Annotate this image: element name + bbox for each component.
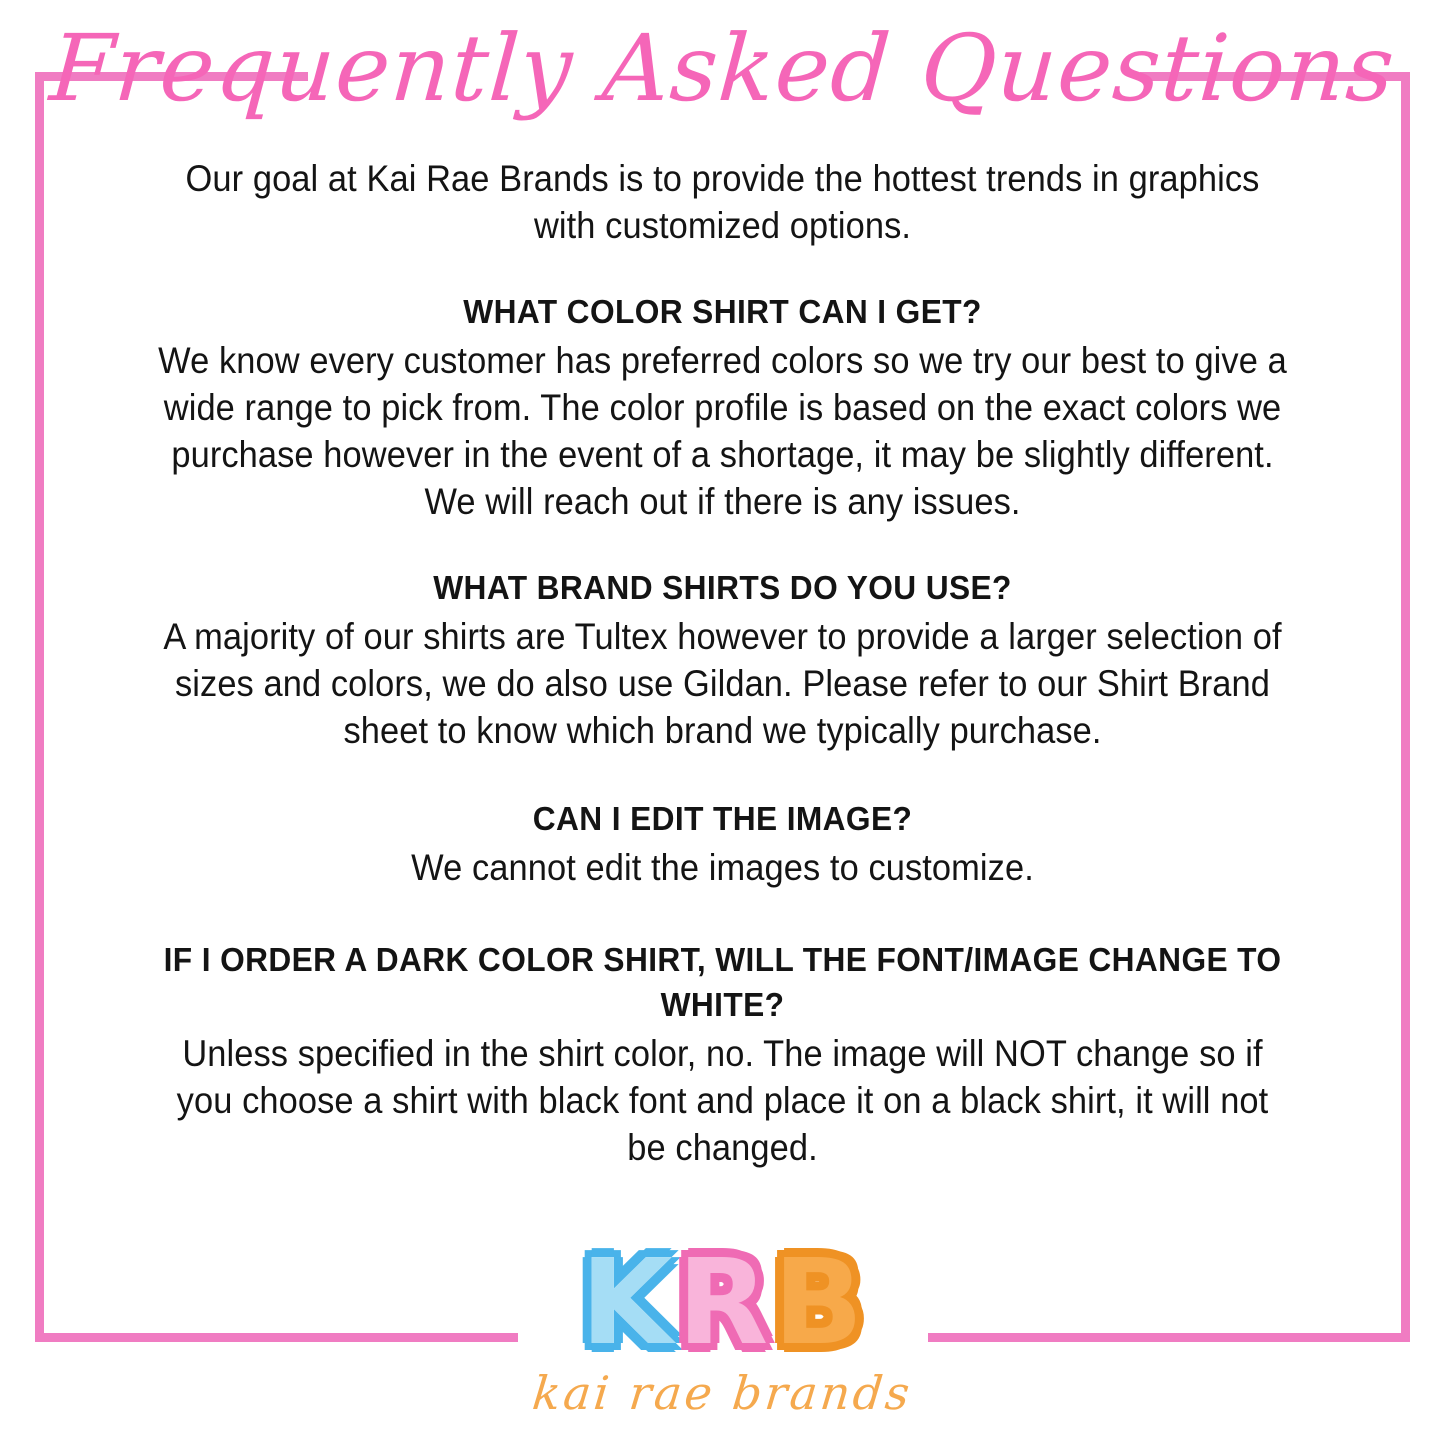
faq-answer: We know every customer has preferred col…: [148, 337, 1297, 525]
logo-letter-k: K: [579, 1243, 675, 1361]
faq-content: Our goal at Kai Rae Brands is to provide…: [105, 155, 1340, 1171]
frame-border-right: [1401, 72, 1410, 1342]
faq-question: CAN I EDIT THE IMAGE?: [130, 796, 1316, 841]
logo-letters: KRB: [0, 1243, 1445, 1361]
intro-paragraph: Our goal at Kai Rae Brands is to provide…: [148, 155, 1297, 249]
page-title: Frequently Asked Questions: [0, 14, 1445, 124]
faq-answer: A majority of our shirts are Tultex howe…: [148, 613, 1297, 754]
faq-answer: We cannot edit the images to customize.: [148, 844, 1297, 891]
logo-letter-b: B: [771, 1243, 866, 1361]
logo-letter-r: R: [675, 1243, 771, 1361]
brand-logo: KRB kai rae brands: [0, 1243, 1445, 1419]
faq-item: WHAT BRAND SHIRTS DO YOU USE? A majority…: [105, 565, 1340, 754]
logo-wordmark: kai rae brands: [0, 1367, 1445, 1419]
frame-border-left: [35, 72, 44, 1342]
faq-question: WHAT COLOR SHIRT CAN I GET?: [130, 289, 1316, 334]
faq-item: WHAT COLOR SHIRT CAN I GET? We know ever…: [105, 289, 1340, 525]
faq-page: Frequently Asked Questions Our goal at K…: [0, 0, 1445, 1445]
faq-question: IF I ORDER A DARK COLOR SHIRT, WILL THE …: [130, 937, 1316, 1027]
faq-item: CAN I EDIT THE IMAGE? We cannot edit the…: [105, 796, 1340, 891]
faq-answer: Unless specified in the shirt color, no.…: [148, 1030, 1297, 1171]
faq-item: IF I ORDER A DARK COLOR SHIRT, WILL THE …: [105, 937, 1340, 1171]
faq-question: WHAT BRAND SHIRTS DO YOU USE?: [130, 565, 1316, 610]
